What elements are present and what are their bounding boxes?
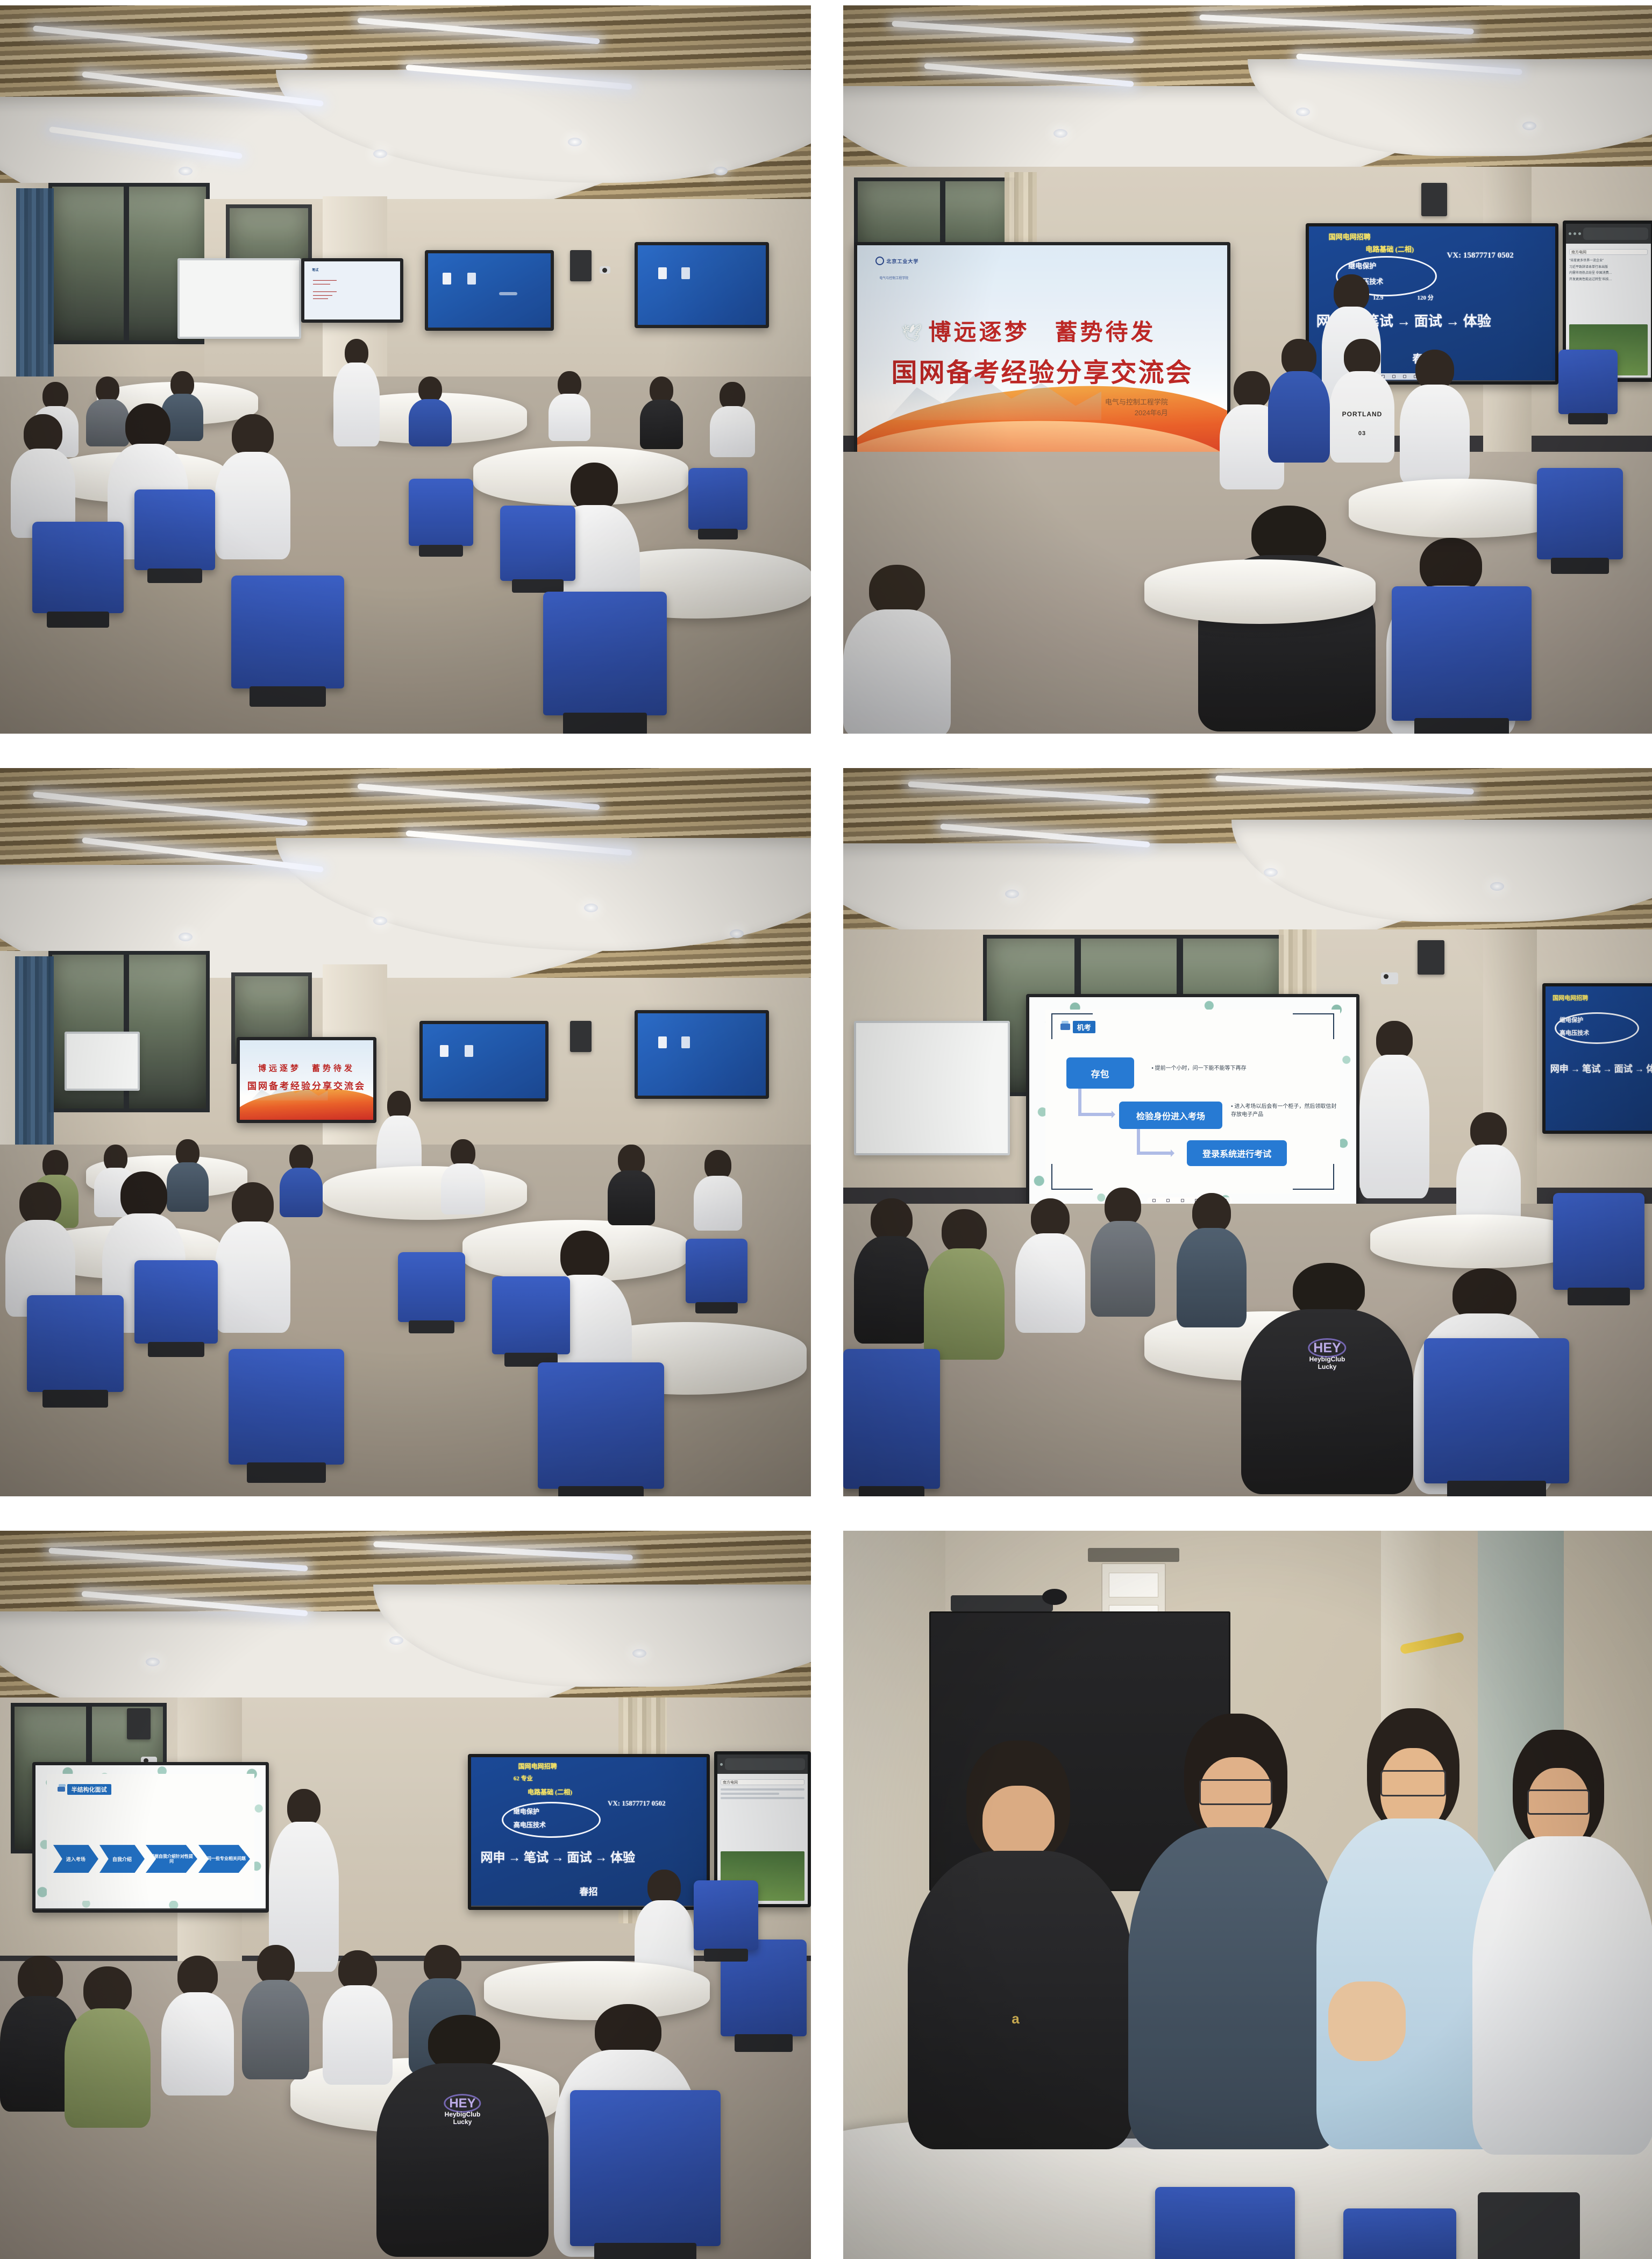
seated-person <box>441 1139 485 1214</box>
chair <box>1478 2192 1580 2259</box>
chair <box>492 1276 570 1354</box>
slide-org-line1: 电气与控制工程学院 <box>1105 397 1168 408</box>
wall-speaker <box>127 1708 151 1739</box>
photo-collage: 笔试 ▬▬▬▬▬▬▬▬▬▬▬▬▬▬▬▬▬▬▬▬▬▬▬▬▬▬▬▬▬▬▬▬▬▬▬▬▬… <box>0 0 1652 2203</box>
chair <box>543 592 667 715</box>
foreground-person <box>215 414 290 559</box>
photo-panel-1[interactable]: 笔试 ▬▬▬▬▬▬▬▬▬▬▬▬▬▬▬▬▬▬▬▬▬▬▬▬▬▬▬▬▬▬▬▬▬▬▬▬▬… <box>0 5 811 734</box>
board-line-0: 电路基础 (二相) <box>528 1787 572 1796</box>
jikao-bullet-1: • 提前一个小时，问一下能不能等下再存 <box>1151 1065 1328 1073</box>
hey-logo-sub2: Lucky <box>1308 1363 1346 1370</box>
jersey-number: 03 <box>1358 430 1366 437</box>
wall-display-center[interactable] <box>425 250 554 331</box>
interview-step-2: 自我介绍 <box>99 1845 145 1873</box>
chair <box>134 489 215 570</box>
seated-person <box>640 376 683 449</box>
jikao-step-2: 检验身份进入考场 <box>1119 1102 1222 1129</box>
interview-slide-display[interactable]: 半结构化面试 进入考场 自我介绍 根据自我介绍针对性提问 提问一些专业相关问题 <box>32 1762 269 1913</box>
hey-logo-main: HEY <box>1308 1338 1346 1358</box>
photo-panel-6[interactable]: a <box>843 1531 1652 2259</box>
foreground-person <box>11 414 75 538</box>
foreground-person-hey-jacket: HEY HeybigClub Lucky <box>376 2015 549 2257</box>
photo-panel-3[interactable]: 博远逐梦 蓄势待发 国网备考经验分享交流会 <box>0 768 811 1496</box>
seated-person <box>854 1198 929 1344</box>
hey-jacket-logo: HEY HeybigClub Lucky <box>444 2097 481 2125</box>
url-bar[interactable] <box>725 1758 805 1770</box>
projector-arm <box>951 1595 1053 1611</box>
camera-icon <box>600 266 610 274</box>
seated-person <box>1091 1188 1155 1317</box>
student-4 <box>1472 1730 1652 2155</box>
board-line-5: 120 分 <box>1418 293 1434 302</box>
chair <box>134 1260 218 1344</box>
chair <box>398 1252 465 1322</box>
result-item[interactable]: "培育更多世界一流企业" <box>1569 258 1648 264</box>
camera-icon <box>1381 972 1398 984</box>
chair <box>688 468 747 530</box>
wall-speaker <box>1418 940 1444 975</box>
seated-person <box>409 376 452 446</box>
hey-logo-sub1: HeybigClub <box>1308 1356 1346 1362</box>
hand <box>1328 1981 1406 2061</box>
title-slide-display[interactable]: 北京工业大学 电气与控制工程学院 🕊 博远逐梦 蓄势待发 国网备考经验分享交流会… <box>854 242 1230 479</box>
chair <box>1537 468 1623 559</box>
wall-speaker <box>570 1021 592 1052</box>
seated-person <box>1177 1193 1247 1327</box>
title-slide-display[interactable]: 博远逐梦 蓄势待发 国网备考经验分享交流会 <box>237 1037 376 1123</box>
book-icon <box>58 1787 65 1792</box>
photo-panel-5[interactable]: 半结构化面试 进入考场 自我介绍 根据自我介绍针对性提问 提问一些专业相关问题 … <box>0 1531 811 2259</box>
foreground-person-hey-jacket: HEY HeybigClub Lucky <box>1241 1263 1413 1494</box>
chair <box>1343 2208 1456 2259</box>
interview-step-3: 根据自我介绍针对性提问 <box>146 1845 197 1873</box>
slide-badge: 笔试 <box>312 269 318 272</box>
whiteboard <box>177 258 301 339</box>
glasses-icon <box>1527 1789 1590 1815</box>
board-note-top: 国网电网招聘 <box>1553 993 1588 1002</box>
board-line-6: 春招 <box>579 1884 597 1898</box>
slide-title-line1: 博远逐梦 蓄势待发 <box>240 1062 373 1074</box>
presenter <box>1359 1021 1429 1198</box>
wall-display-center[interactable] <box>419 1021 549 1102</box>
student-1: a <box>908 1741 1134 2149</box>
photo-panel-2[interactable]: 北京工业大学 电气与控制工程学院 🕊 博远逐梦 蓄势待发 国网备考经验分享交流会… <box>843 5 1652 734</box>
seated-person <box>1268 339 1330 463</box>
presenter <box>269 1789 339 1972</box>
wall-speaker <box>570 250 592 281</box>
seated-person <box>549 371 590 441</box>
board-contact-value: 15877717 0502 <box>1463 251 1514 260</box>
seated-person <box>1015 1198 1085 1333</box>
projector-lens-icon <box>1042 1589 1067 1605</box>
round-table <box>323 1166 527 1220</box>
back-icon[interactable] <box>720 1763 723 1766</box>
jikao-step-1: 存包 <box>1066 1057 1134 1089</box>
chair <box>1392 586 1532 721</box>
board-contact-label: VX: <box>1447 251 1461 260</box>
glasses-icon <box>1199 1779 1272 1806</box>
wall-display-right[interactable] <box>635 1010 769 1099</box>
reload-icon[interactable] <box>1578 232 1581 235</box>
wall-display-right[interactable] <box>635 242 769 328</box>
blue-interactive-board[interactable]: 国网电网招聘 继电保护 高电压技术 网申 → 笔试 → 面试 → 体验 <box>1542 983 1652 1134</box>
board-line-0: 电路基础 (二相) <box>1365 244 1414 254</box>
seated-person <box>242 1945 309 2079</box>
board-note-top: 国网电网招聘 <box>1329 231 1371 241</box>
board-line-3: 网申 → 笔试 → 面试 → 体验 <box>1550 1061 1652 1075</box>
seated-person <box>924 1209 1005 1360</box>
interview-step-1: 进入考场 <box>53 1845 98 1873</box>
forward-icon[interactable] <box>1573 232 1576 235</box>
whiteboard <box>854 1021 1010 1155</box>
chair <box>500 506 575 581</box>
board-line-3: 网申 → 笔试 → 面试 → 体验 <box>481 1847 636 1865</box>
whiteboard <box>65 1032 140 1091</box>
search-input[interactable]: 南方电网 <box>1569 249 1648 255</box>
board-line-2: 高电压技术 <box>1560 1028 1589 1037</box>
jikao-badge: 机考 <box>1073 1021 1095 1033</box>
wall-speaker <box>1421 183 1447 216</box>
board-note-top: 国网电网招聘 <box>518 1761 557 1771</box>
standing-presenter <box>333 339 380 446</box>
book-icon <box>1060 1024 1070 1030</box>
interview-badge: 半结构化面试 <box>67 1784 111 1795</box>
board-line-1: 继电保护 <box>1560 1015 1583 1024</box>
wall-mount-bracket <box>1088 1548 1179 1562</box>
foreground-person <box>215 1182 290 1333</box>
photo-panel-4[interactable]: 机考 存包 检验身份进入考场 登录系统进行考试 • 提前一个小时，问一下能不能等… <box>843 768 1652 1496</box>
chair <box>1553 1193 1644 1290</box>
chair <box>570 2090 721 2246</box>
url-bar[interactable] <box>1583 228 1648 239</box>
board-contact-label: VX: <box>608 1799 620 1807</box>
wall-display-left[interactable]: 笔试 ▬▬▬▬▬▬▬▬▬▬▬▬▬▬▬▬▬▬▬▬▬▬▬▬▬▬▬▬▬▬▬▬▬▬▬▬▬… <box>301 258 403 323</box>
foreground-person <box>843 565 951 734</box>
chair <box>229 1349 344 1465</box>
university-seal-icon <box>875 257 884 265</box>
result-item[interactable]: 习近平致辞译本单行本出版 <box>1569 265 1648 271</box>
jikao-bullet-2: • 进入考场以后会有一个柜子，然后领取信封存放电子产品 <box>1231 1103 1337 1119</box>
back-icon[interactable] <box>1569 232 1571 235</box>
college-name: 电气与控制工程学院 <box>879 275 908 280</box>
slide-org-line2: 2024年6月 <box>1105 408 1168 418</box>
chair <box>686 1239 747 1303</box>
board-major: 62 专业 <box>514 1774 533 1782</box>
seated-person <box>694 1150 742 1231</box>
seated-person <box>710 382 755 457</box>
hey-logo-sub1: HeybigClub <box>444 2111 481 2118</box>
chair <box>231 576 344 688</box>
seated-person <box>1400 350 1470 484</box>
slide-title-line2: 国网备考经验分享交流会 <box>240 1078 373 1092</box>
chair <box>694 1880 758 1950</box>
jersey-team: PORTLAND <box>1342 410 1383 418</box>
chair <box>409 479 473 546</box>
result-item[interactable]: 开发更高性能运过转型 科技… <box>1569 277 1648 283</box>
university-name: 北京工业大学 <box>886 258 918 265</box>
search-input[interactable]: 南方电网 <box>721 1779 804 1785</box>
result-item[interactable]: 内需市场热点纷呈 中国消费… <box>1569 271 1648 276</box>
hey-logo-sub2: Lucky <box>444 2119 481 2125</box>
board-line-1: 继电保护 <box>1348 260 1376 271</box>
glasses-icon <box>1380 1770 1446 1796</box>
chair <box>1424 1338 1569 1483</box>
chair <box>32 522 124 613</box>
hey-jacket-logo: HEY HeybigClub Lucky <box>1308 1341 1346 1370</box>
chair <box>27 1295 124 1392</box>
student-2 <box>1128 1714 1343 2149</box>
seated-person-portland: PORTLAND 03 <box>1330 339 1394 463</box>
seated-person <box>65 1966 151 2128</box>
chair <box>538 1362 664 1489</box>
slide-title-line1: 博远逐梦 蓄势待发 <box>857 314 1227 347</box>
board-contact-value: 15877717 0502 <box>622 1799 665 1807</box>
jikao-flow-display[interactable]: 机考 存包 检验身份进入考场 登录系统进行考试 • 提前一个小时，问一下能不能等… <box>1026 994 1359 1209</box>
chair <box>1558 350 1618 414</box>
round-table <box>1144 559 1376 624</box>
interview-step-4: 提问一些专业相关问题 <box>198 1845 250 1873</box>
board-line-1: 继电保护 <box>514 1807 539 1816</box>
chair <box>1155 2187 1295 2259</box>
seated-person <box>608 1145 655 1225</box>
slide-title-line2: 国网备考经验分享交流会 <box>857 351 1227 389</box>
board-line-2: 高电压技术 <box>514 1820 546 1829</box>
seated-person <box>161 1956 234 2095</box>
chair <box>843 1349 940 1489</box>
jikao-step-3: 登录系统进行考试 <box>1187 1140 1287 1166</box>
hey-logo-main: HEY <box>444 2094 481 2113</box>
